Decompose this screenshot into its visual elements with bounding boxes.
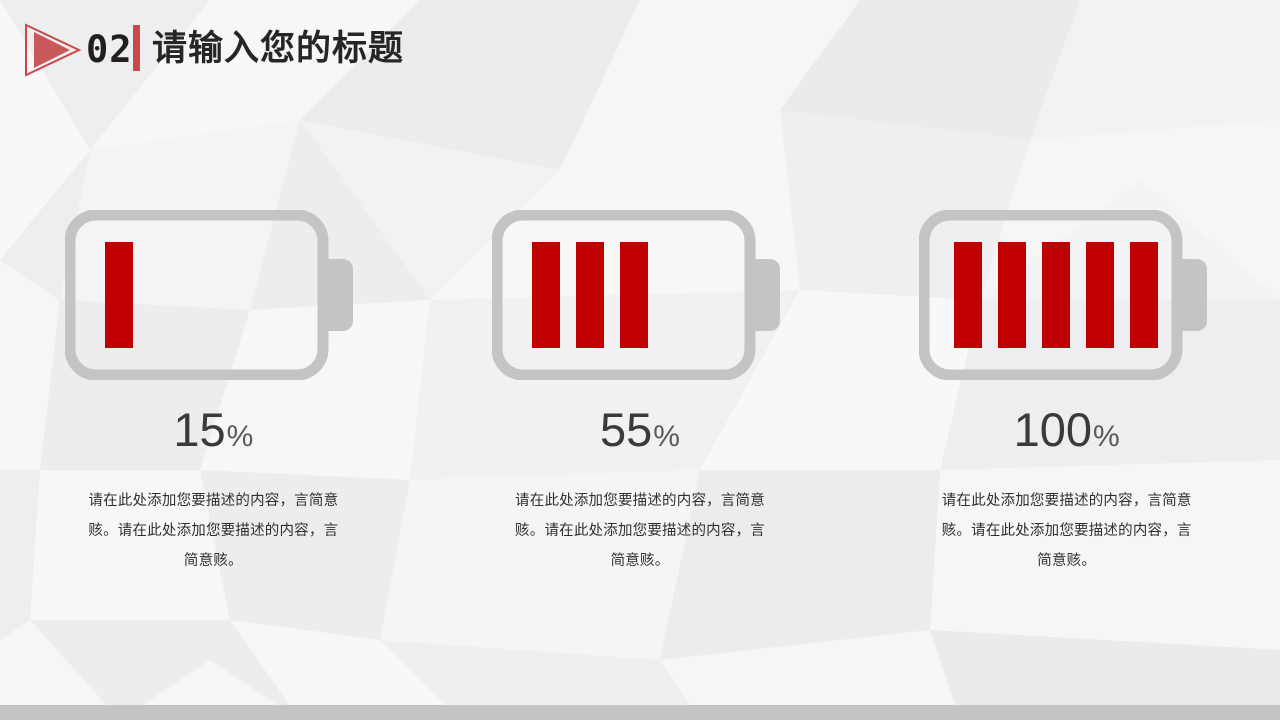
battery-level-icon-2 — [492, 210, 788, 380]
percent-sign-2: % — [653, 420, 680, 454]
battery-columns: 15 % 请在此处添加您要描述的内容，言简意赅。请在此处添加您要描述的内容，言简… — [0, 210, 1280, 640]
column-2: 55 % 请在此处添加您要描述的内容，言简意赅。请在此处添加您要描述的内容，言简… — [427, 210, 854, 640]
slide-canvas: 02 请输入您的标题 15 % 请在此处添加您要描述的内容，言简意赅。请在此处添… — [0, 0, 1280, 720]
percent-row-1: 15 % — [173, 402, 253, 460]
bottom-accent-bar — [0, 705, 1280, 720]
play-triangle-icon — [22, 22, 82, 78]
battery-level-icon-1 — [65, 210, 361, 380]
page-title: 请输入您的标题 — [152, 20, 404, 78]
percent-row-2: 55 % — [600, 402, 680, 460]
percent-row-3: 100 % — [1014, 402, 1120, 460]
percent-sign-1: % — [227, 420, 254, 454]
battery-level-icon-3 — [919, 210, 1215, 380]
description-2: 请在此处添加您要描述的内容，言简意赅。请在此处添加您要描述的内容，言简意赅。 — [509, 486, 771, 576]
percent-value-1: 15 — [173, 402, 225, 457]
column-3: 100 % 请在此处添加您要描述的内容，言简意赅。请在此处添加您要描述的内容，言… — [853, 210, 1280, 640]
percent-value-2: 55 — [600, 402, 652, 457]
description-1: 请在此处添加您要描述的内容，言简意赅。请在此处添加您要描述的内容，言简意赅。 — [82, 486, 344, 576]
title-separator-bar — [133, 25, 140, 71]
slide-header: 02 请输入您的标题 — [0, 0, 1280, 100]
percent-sign-3: % — [1093, 420, 1120, 454]
column-1: 15 % 请在此处添加您要描述的内容，言简意赅。请在此处添加您要描述的内容，言简… — [0, 210, 427, 640]
percent-value-3: 100 — [1014, 402, 1092, 457]
description-3: 请在此处添加您要描述的内容，言简意赅。请在此处添加您要描述的内容，言简意赅。 — [936, 486, 1198, 576]
